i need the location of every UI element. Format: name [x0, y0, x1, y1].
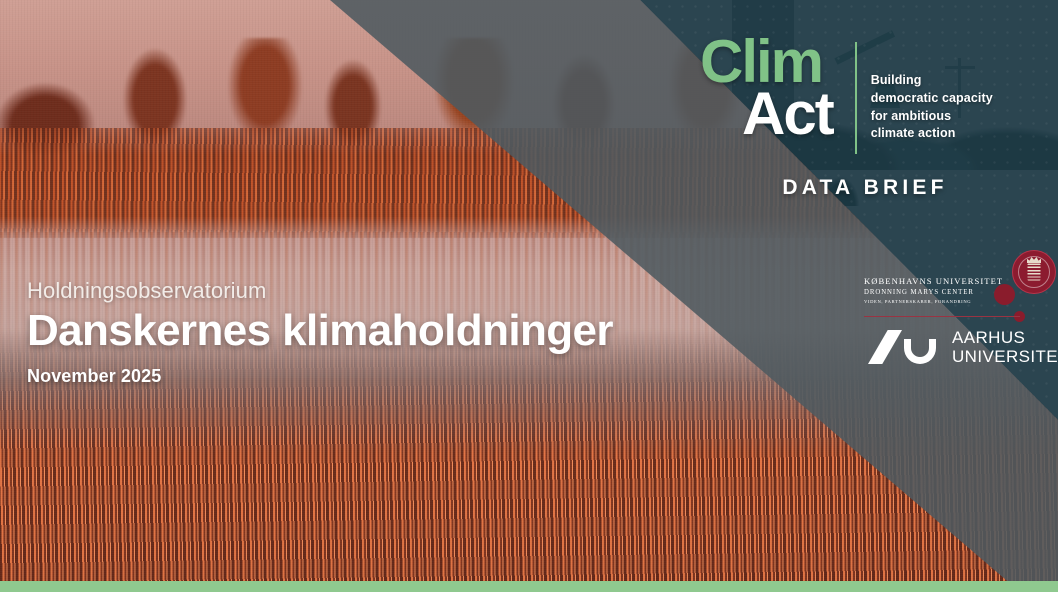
title-block: Holdningsobservatorium Danskernes klimah…	[27, 278, 613, 387]
ku-logo-text: KØBENHAVNS UNIVERSITET DRONNING MARYS CE…	[864, 276, 1003, 305]
logo-word-act: Act	[742, 88, 833, 140]
logo-tagline: Building democratic capacity for ambitio…	[871, 72, 993, 143]
page-title: Danskernes klimaholdninger	[27, 306, 613, 356]
au-mark-icon	[868, 330, 936, 364]
logo-vertical-divider	[855, 42, 857, 154]
bottom-accent-bar	[0, 581, 1058, 592]
logo-separator-rule	[864, 316, 1020, 317]
university-logos: KØBENHAVNS UNIVERSITET DRONNING MARYS CE…	[862, 248, 1052, 310]
ku-line-2: DRONNING MARYS CENTER	[864, 288, 1003, 298]
eyebrow-text: Holdningsobservatorium	[27, 278, 613, 304]
ku-line-1: KØBENHAVNS UNIVERSITET	[864, 276, 1003, 288]
au-logo-text: AARHUS UNIVERSITET	[952, 328, 1058, 366]
ku-logo: KØBENHAVNS UNIVERSITET DRONNING MARYS CE…	[862, 248, 1052, 310]
ku-line-3: VIDEN, PARTNERSKABER, FORANDRING	[864, 298, 1003, 305]
data-brief-label: DATA BRIEF	[700, 176, 1030, 200]
climact-logo-lockup: Clim Act Building democratic capacity fo…	[700, 36, 1030, 154]
publication-date: November 2025	[27, 366, 613, 387]
accent-dot-large	[994, 284, 1015, 305]
au-logo: AARHUS UNIVERSITET	[868, 328, 1058, 366]
data-brief-cover: Clim Act Building democratic capacity fo…	[0, 0, 1058, 592]
ku-seal-icon	[1012, 250, 1056, 294]
